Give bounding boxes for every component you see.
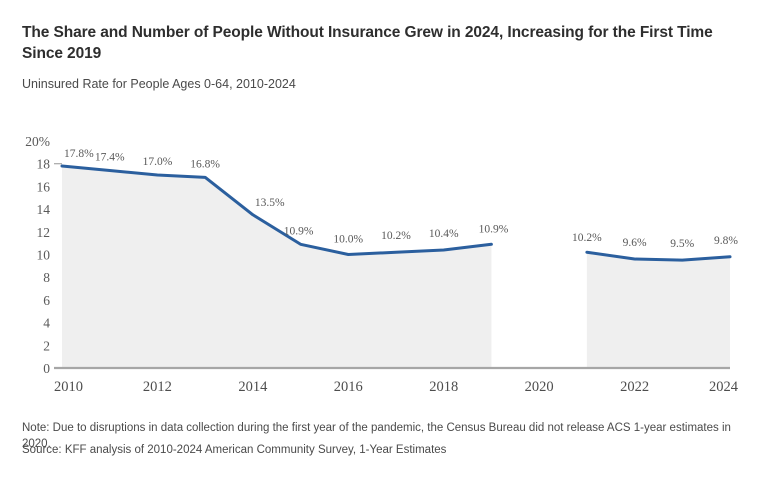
data-point-label: 16.8% xyxy=(190,158,220,170)
y-axis-tick-label: 16 xyxy=(37,179,51,194)
x-axis-tick-label: 2010 xyxy=(54,379,83,393)
x-axis-tick-label: 2016 xyxy=(334,379,363,393)
data-point-label: 17.8% xyxy=(64,148,94,160)
footer-divider xyxy=(22,404,746,405)
data-point-label: 9.5% xyxy=(670,238,694,250)
chart-svg: 20%181614121086420 201020122014201620182… xyxy=(0,103,768,393)
y-axis-labels: 20%181614121086420 xyxy=(25,134,50,376)
y-axis-tick-label: 4 xyxy=(43,316,50,331)
chart-subtitle: Uninsured Rate for People Ages 0-64, 201… xyxy=(22,77,732,91)
footnote-source: Source: KFF analysis of 2010-2024 Americ… xyxy=(22,442,752,458)
data-point-label: 13.5% xyxy=(255,197,285,209)
x-axis-labels: 20102012201420162018202020222024 xyxy=(54,379,739,393)
area-fill-group xyxy=(62,166,730,368)
y-axis-tick-label: 18 xyxy=(37,157,51,172)
data-point-label: 9.6% xyxy=(623,237,647,249)
x-axis-tick-label: 2022 xyxy=(620,379,649,393)
x-axis-tick-label: 2024 xyxy=(709,379,739,393)
x-axis-tick-label: 2020 xyxy=(525,379,554,393)
data-point-label: 10.0% xyxy=(333,234,363,246)
y-axis-tick-label: 20% xyxy=(25,134,50,149)
data-point-label: 10.4% xyxy=(429,228,459,240)
data-point-label: 10.9% xyxy=(479,223,509,235)
y-axis-tick-label: 6 xyxy=(43,293,50,308)
data-point-label: 10.2% xyxy=(381,230,411,242)
x-axis-tick-label: 2018 xyxy=(429,379,458,393)
x-axis-tick-label: 2012 xyxy=(143,379,172,393)
y-axis-tick-label: 0 xyxy=(43,361,50,376)
area-fill-segment-2 xyxy=(587,252,730,368)
x-axis-tick-label: 2014 xyxy=(238,379,268,393)
data-point-label: 10.9% xyxy=(284,225,314,237)
y-axis-tick-label: 10 xyxy=(37,248,51,263)
y-axis-tick-label: 2 xyxy=(43,338,50,353)
y-axis-tick-label: 14 xyxy=(37,202,51,217)
line-area-chart: 20%181614121086420 201020122014201620182… xyxy=(0,103,768,393)
data-point-label: 10.2% xyxy=(572,232,602,244)
chart-page: The Share and Number of People Without I… xyxy=(0,0,768,478)
y-axis-tick-label: 12 xyxy=(37,225,51,240)
data-point-label: 9.8% xyxy=(714,235,738,247)
data-point-label: 17.0% xyxy=(143,156,173,168)
y-axis-tick-label: 8 xyxy=(43,270,50,285)
page-title: The Share and Number of People Without I… xyxy=(22,22,732,65)
data-point-label: 17.4% xyxy=(95,152,125,164)
